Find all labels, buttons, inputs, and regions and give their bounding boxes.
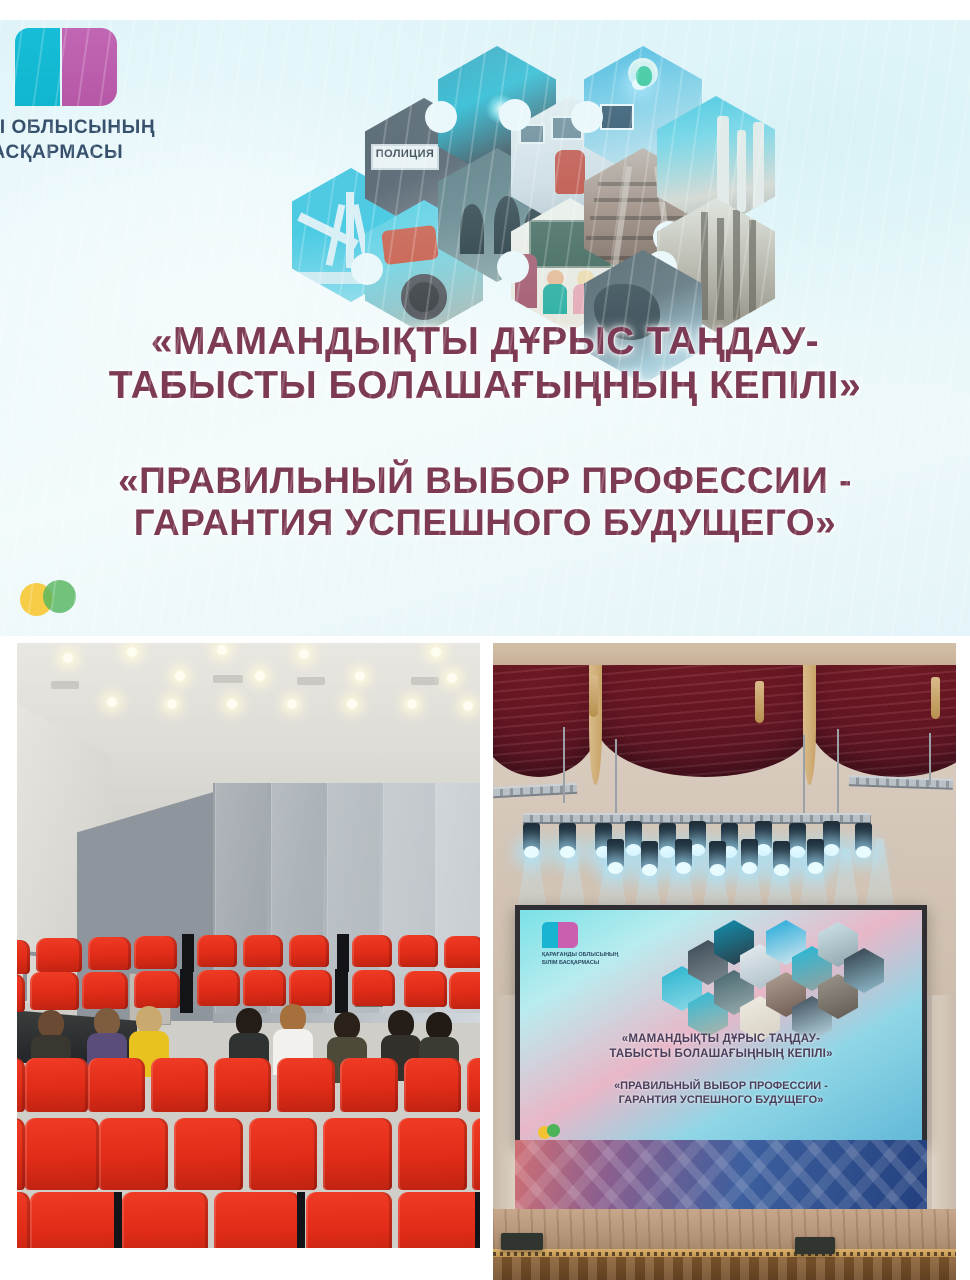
floor-monitor-speaker [795,1237,835,1254]
led-screen: ҚАРАҒАНДЫ ОБЛЫСЫНЫҢ БІЛІМ БАСҚАРМАСЫ [515,905,927,1145]
student-hair [94,1008,120,1036]
title-kazakh-line-2: ТАБЫСТЫ БОЛАШАҒЫҢНЫҢ КЕПІЛІ» [14,364,956,408]
student-hair [426,1012,452,1040]
hex-joint-dot [500,254,526,280]
truss-wire [837,729,839,819]
operator-chair [555,150,585,194]
logo-line-1: НДЫ ОБЛЫСЫНЫҢ [0,115,258,140]
led-title-kz-line-2: ТАБЫСТЫ БОЛАШАҒЫҢНЫҢ КЕПІЛІ» [520,1047,922,1062]
square-magenta-icon [62,28,117,106]
curtain-tassel [931,677,940,719]
curtain-swag [493,665,599,777]
profession-hexagon-collage: ПОЛИЦИЯ [292,28,970,340]
student-hair [38,1010,64,1038]
presentation-slide: НДЫ ОБЛЫСЫНЫҢ И БАСҚАРМАСЫ [0,20,970,636]
organization-logo: НДЫ ОБЛЫСЫНЫҢ И БАСҚАРМАСЫ [0,28,258,166]
hex-joint-dot [502,102,528,128]
stage-with-led-screen-photo: ҚАРАҒАНДЫ ОБЛЫСЫНЫҢ БІЛІМ БАСҚАРМАСЫ [493,643,956,1280]
stage-light[interactable] [659,823,676,853]
lamp-green-glow [636,66,652,86]
stage-light[interactable] [625,821,642,851]
student-hair [388,1010,414,1038]
stage-light[interactable] [741,839,758,869]
student-hair [334,1012,360,1040]
truss-wire [803,735,805,819]
truss-wire [929,733,931,785]
square-cyan-icon [542,922,558,948]
led-title-ru-line-2: ГАРАНТИЯ УСПЕШНОГО БУДУЩЕГО» [520,1093,922,1107]
led-hexagon-collage [662,920,892,1032]
wall-left-return [493,995,517,1210]
led-logo-text: ҚАРАҒАНДЫ ОБЛЫСЫНЫҢ БІЛІМ БАСҚАРМАСЫ [542,952,618,967]
stage-backdrop-banner [515,1140,927,1212]
truck-tire [401,274,447,320]
photo-row: ҚАРАҒАНДЫ ОБЛЫСЫНЫҢ БІЛІМ БАСҚАРМАСЫ [0,643,970,1249]
curtain-tassel [755,681,764,723]
stage-light[interactable] [823,821,840,851]
title-russian: «ПРАВИЛЬНЫЙ ВЫБОР ПРОФЕССИИ - ГАРАНТИЯ У… [0,460,970,544]
led-title-ru-line-1: «ПРАВИЛЬНЫЙ ВЫБОР ПРОФЕССИИ - [520,1079,922,1093]
stage-light[interactable] [675,839,692,869]
dot-green [43,580,76,613]
stage-light[interactable] [789,823,806,853]
stage-light[interactable] [773,841,790,871]
stage-light[interactable] [559,823,576,853]
title-russian-line-2: ГАРАНТИЯ УСПЕШНОГО БУДУЩЕГО» [10,502,960,544]
student-hair [236,1008,262,1036]
curtain-tassel [589,675,598,717]
led-title-kz-line-1: «МАМАНДЫҚТЫ ДҰРЫС ТАҢДАУ- [520,1032,922,1047]
led-logo: ҚАРАҒАНДЫ ОБЛЫСЫНЫҢ БІЛІМ БАСҚАРМАСЫ [542,922,618,967]
stage-light[interactable] [523,823,540,853]
police-vest-label: ПОЛИЦИЯ [373,148,437,160]
truss-wire [615,739,617,821]
square-magenta-icon [558,922,578,948]
led-titles: «МАМАНДЫҚТЫ ДҰРЫС ТАҢДАУ- ТАБЫСТЫ БОЛАША… [520,1032,922,1107]
led-title-russian: «ПРАВИЛЬНЫЙ ВЫБОР ПРОФЕССИИ - ГАРАНТИЯ У… [520,1079,922,1108]
slide-decor-dots [20,578,110,618]
led-logo-line-1: ҚАРАҒАНДЫ ОБЛЫСЫНЫҢ [542,952,618,960]
stage-light[interactable] [709,841,726,871]
wall-right-return [932,995,956,1210]
led-title-kazakh: «МАМАНДЫҚТЫ ДҰРЫС ТАҢДАУ- ТАБЫСТЫ БОЛАША… [520,1032,922,1062]
stage-apron [493,1257,956,1280]
title-kazakh-line-1: «МАМАНДЫҚТЫ ДҰРЫС ТАҢДАУ- [14,320,956,364]
collage-page: НДЫ ОБЛЫСЫНЫҢ И БАСҚАРМАСЫ [0,0,970,1280]
child-body [543,284,567,314]
dot-green [547,1124,560,1137]
stage-light[interactable] [607,839,624,869]
seat-rows [17,938,480,1248]
square-cyan-icon [15,28,60,106]
logo-text: НДЫ ОБЛЫСЫНЫҢ И БАСҚАРМАСЫ [0,115,258,166]
truck-cab [381,225,439,265]
logo-marks [15,28,258,106]
logo-line-2: И БАСҚАРМАСЫ [0,140,258,165]
stage-light[interactable] [807,839,824,869]
stage-light[interactable] [641,841,658,871]
floor-monitor-speaker [501,1233,543,1250]
hex-joint-dot [354,256,380,282]
hex-joint-dot [428,104,454,130]
title-russian-line-1: «ПРАВИЛЬНЫЙ ВЫБОР ПРОФЕССИИ - [10,460,960,502]
led-logo-line-2: БІЛІМ БАСҚАРМАСЫ [542,960,618,968]
curtain-swag [595,665,815,777]
title-kazakh: «МАМАНДЫҚТЫ ДҰРЫС ТАҢДАУ- ТАБЫСТЫ БОЛАША… [0,320,970,408]
slide-titles: «МАМАНДЫҚТЫ ДҰРЫС ТАҢДАУ- ТАБЫСТЫ БОЛАША… [0,320,970,544]
student-hair [136,1006,162,1034]
student-hair [280,1004,306,1032]
hex-joint-dot [574,104,600,130]
led-slide: ҚАРАҒАНДЫ ОБЛЫСЫНЫҢ БІЛІМ БАСҚАРМАСЫ [520,910,922,1140]
auditorium-with-students-photo [17,643,480,1248]
truss-wire [563,727,565,803]
stage-light[interactable] [855,823,872,853]
